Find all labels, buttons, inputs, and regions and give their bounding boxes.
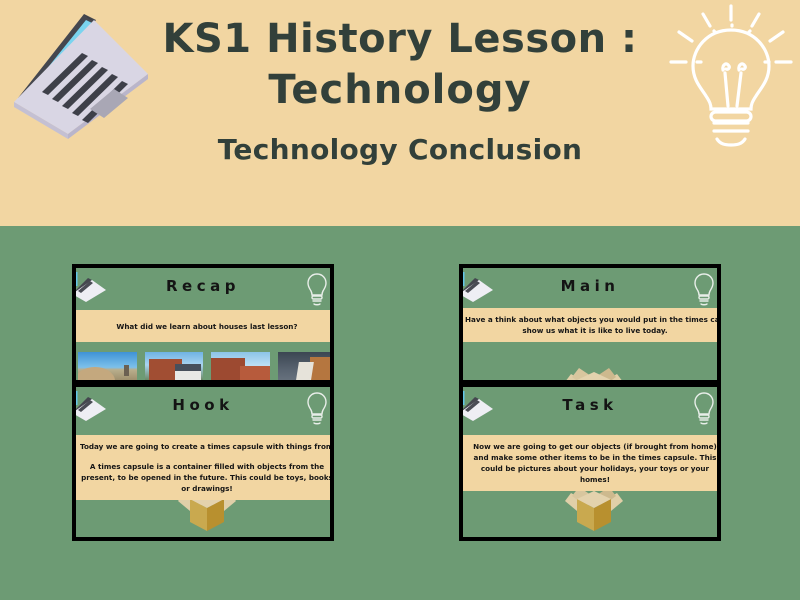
house-photo-modern-block [278,352,335,384]
cardboard-box-icon [563,358,625,384]
callout-line: Now we are going to get our objects (if … [465,441,721,485]
callout-line: show us what it is like to live today. [465,325,721,336]
callout-line: Have a think about what objects you woul… [465,314,721,325]
house-photo-strip [76,352,334,384]
slide-task[interactable]: Task Now we are going to get our objects… [459,383,721,541]
cardboard-box-wrap [463,358,721,384]
slide-recap[interactable]: Recap What did we learn about houses las… [72,264,334,384]
slide-title: Main [463,268,717,295]
header-text: KS1 History Lesson : Technology Technolo… [140,0,660,226]
slide-title: Task [463,387,717,414]
lesson-title-line1: KS1 History Lesson : [163,14,638,65]
slide-callout: What did we learn about houses last less… [76,310,334,342]
slide-hook[interactable]: Hook Today we are going to create a time… [72,383,334,541]
house-photo-brick-terrace [211,352,270,384]
callout-line: A times capsule is a container filled wi… [80,461,334,494]
slide-main[interactable]: Main Have a think about what objects you… [459,264,721,384]
slide-title: Recap [76,268,330,295]
header-banner: KS1 History Lesson : Technology Technolo… [0,0,800,226]
callout-line: What did we learn about houses last less… [116,321,297,332]
lightbulb-icon [665,2,797,152]
house-photo-thatched-cottage [78,352,137,384]
slide-column-right: Main Have a think about what objects you… [459,264,721,541]
slide-preview-page: KS1 History Lesson : Technology Technolo… [0,0,800,600]
slide-title: Hook [76,387,330,414]
slide-column-left: Recap What did we learn about houses las… [72,264,334,541]
slide-callout: Now we are going to get our objects (if … [461,435,721,491]
house-photo-red-brick-detached [145,352,204,384]
lesson-title-line2: Technology [268,65,531,116]
callout-line: Today we are going to create a times cap… [80,441,334,452]
lesson-subtitle: Technology Conclusion [218,132,583,168]
slide-callout: Have a think about what objects you woul… [461,308,721,342]
slide-callout: Today we are going to create a times cap… [76,435,334,500]
laptop-icon [6,6,156,146]
